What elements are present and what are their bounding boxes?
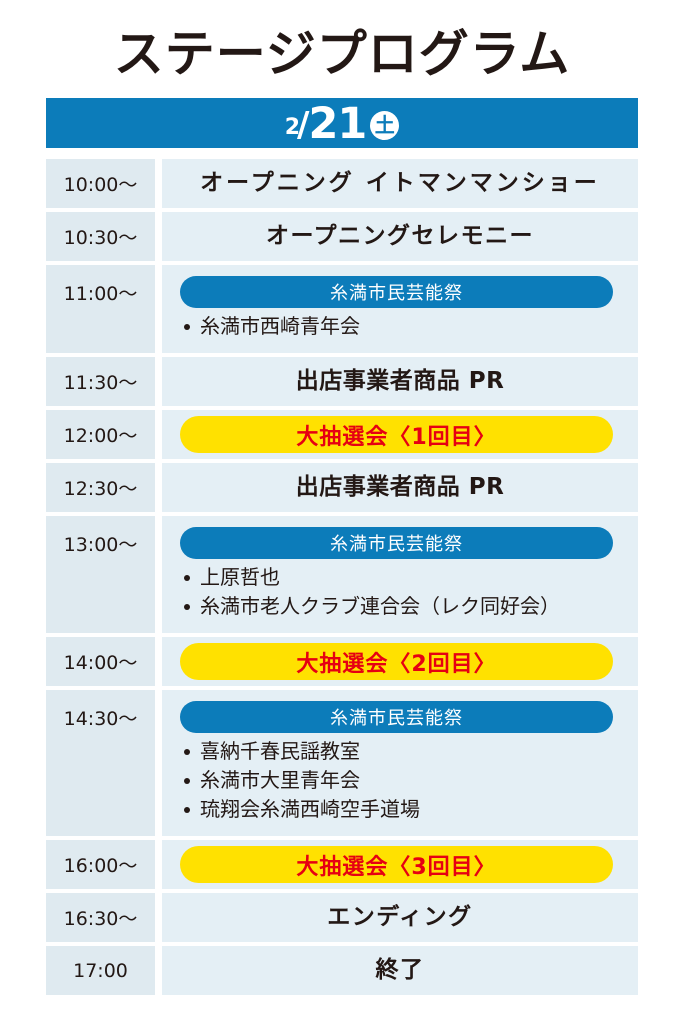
- schedule-time: 16:30〜: [46, 893, 155, 942]
- schedule-time: 13:00〜: [46, 516, 155, 633]
- schedule-row: 11:00〜糸満市民芸能祭糸満市西崎青年会: [46, 265, 638, 353]
- schedule-row: 16:00〜大抽選会〈3回目〉: [46, 840, 638, 889]
- bullet-dot-icon: [184, 778, 190, 784]
- bullet-dot-icon: [184, 604, 190, 610]
- schedule-content: オープニングセレモニー: [162, 212, 638, 261]
- performer-name: 糸満市老人クラブ連合会（レク同好会）: [200, 594, 560, 618]
- schedule-row: 12:00〜大抽選会〈1回目〉: [46, 410, 638, 459]
- performer-item: 琉翔会糸満西崎空手道場: [184, 795, 638, 824]
- performer-list: 上原哲也糸満市老人クラブ連合会（レク同好会）: [162, 563, 638, 621]
- section-header-pill: 糸満市民芸能祭: [180, 701, 613, 733]
- schedule-content: エンディング: [162, 893, 638, 942]
- performer-item: 糸満市大里青年会: [184, 766, 638, 795]
- schedule-content: 出店事業者商品 PR: [162, 357, 638, 406]
- schedule-time: 11:30〜: [46, 357, 155, 406]
- schedule-content: 糸満市民芸能祭喜納千春民謡教室糸満市大里青年会琉翔会糸満西崎空手道場: [162, 690, 638, 836]
- lottery-pill: 大抽選会〈3回目〉: [180, 846, 613, 883]
- schedule-content: 終了: [162, 946, 638, 995]
- schedule-time: 14:30〜: [46, 690, 155, 836]
- schedule-row: 14:30〜糸満市民芸能祭喜納千春民謡教室糸満市大里青年会琉翔会糸満西崎空手道場: [46, 690, 638, 836]
- performer-list: 糸満市西崎青年会: [162, 312, 638, 341]
- schedule-content: 糸満市民芸能祭上原哲也糸満市老人クラブ連合会（レク同好会）: [162, 516, 638, 633]
- performer-name: 上原哲也: [200, 565, 280, 589]
- stage-program-poster: ステージプログラム 2 / 21 土 10:00〜オープニング イトマンマンショ…: [0, 0, 684, 1024]
- date-day: 21: [308, 103, 366, 146]
- program-title: エンディング: [162, 893, 638, 942]
- program-title: 終了: [162, 946, 638, 995]
- bullet-dot-icon: [184, 749, 190, 755]
- program-title: オープニングセレモニー: [162, 212, 638, 261]
- schedule-row: 13:00〜糸満市民芸能祭上原哲也糸満市老人クラブ連合会（レク同好会）: [46, 516, 638, 633]
- performer-name: 喜納千春民謡教室: [200, 739, 360, 763]
- schedule-content: 大抽選会〈1回目〉: [162, 410, 638, 459]
- schedule-table: 10:00〜オープニング イトマンマンショー10:30〜オープニングセレモニー1…: [46, 159, 638, 995]
- bullet-dot-icon: [184, 324, 190, 330]
- schedule-content: 糸満市民芸能祭糸満市西崎青年会: [162, 265, 638, 353]
- date-banner: 2 / 21 土: [46, 98, 638, 148]
- schedule-row: 11:30〜出店事業者商品 PR: [46, 357, 638, 406]
- lottery-pill: 大抽選会〈1回目〉: [180, 416, 613, 453]
- performer-item: 糸満市西崎青年会: [184, 312, 638, 341]
- schedule-time: 17:00: [46, 946, 155, 995]
- schedule-time: 12:30〜: [46, 463, 155, 512]
- performer-name: 糸満市西崎青年会: [200, 314, 360, 338]
- section-header-pill: 糸満市民芸能祭: [180, 527, 613, 559]
- schedule-row: 10:30〜オープニングセレモニー: [46, 212, 638, 261]
- program-title: 出店事業者商品 PR: [162, 357, 638, 406]
- schedule-content: 大抽選会〈2回目〉: [162, 637, 638, 686]
- schedule-time: 16:00〜: [46, 840, 155, 889]
- bullet-dot-icon: [184, 807, 190, 813]
- performer-item: 上原哲也: [184, 563, 638, 592]
- performer-list: 喜納千春民謡教室糸満市大里青年会琉翔会糸満西崎空手道場: [162, 737, 638, 824]
- performer-name: 糸満市大里青年会: [200, 768, 360, 792]
- schedule-time: 10:00〜: [46, 159, 155, 208]
- schedule-row: 17:00終了: [46, 946, 638, 995]
- schedule-row: 14:00〜大抽選会〈2回目〉: [46, 637, 638, 686]
- schedule-time: 12:00〜: [46, 410, 155, 459]
- day-of-week-badge: 土: [370, 111, 399, 140]
- schedule-row: 10:00〜オープニング イトマンマンショー: [46, 159, 638, 208]
- schedule-content: 大抽選会〈3回目〉: [162, 840, 638, 889]
- schedule-content: オープニング イトマンマンショー: [162, 159, 638, 208]
- program-title: 出店事業者商品 PR: [162, 463, 638, 512]
- program-title: オープニング イトマンマンショー: [162, 159, 638, 208]
- performer-item: 糸満市老人クラブ連合会（レク同好会）: [184, 592, 638, 621]
- schedule-time: 14:00〜: [46, 637, 155, 686]
- performer-item: 喜納千春民謡教室: [184, 737, 638, 766]
- schedule-content: 出店事業者商品 PR: [162, 463, 638, 512]
- lottery-pill: 大抽選会〈2回目〉: [180, 643, 613, 680]
- page-title: ステージプログラム: [46, 0, 638, 88]
- section-header-pill: 糸満市民芸能祭: [180, 276, 613, 308]
- schedule-time: 11:00〜: [46, 265, 155, 353]
- performer-name: 琉翔会糸満西崎空手道場: [200, 797, 420, 821]
- schedule-row: 16:30〜エンディング: [46, 893, 638, 942]
- schedule-row: 12:30〜出店事業者商品 PR: [46, 463, 638, 512]
- schedule-time: 10:30〜: [46, 212, 155, 261]
- bullet-dot-icon: [184, 575, 190, 581]
